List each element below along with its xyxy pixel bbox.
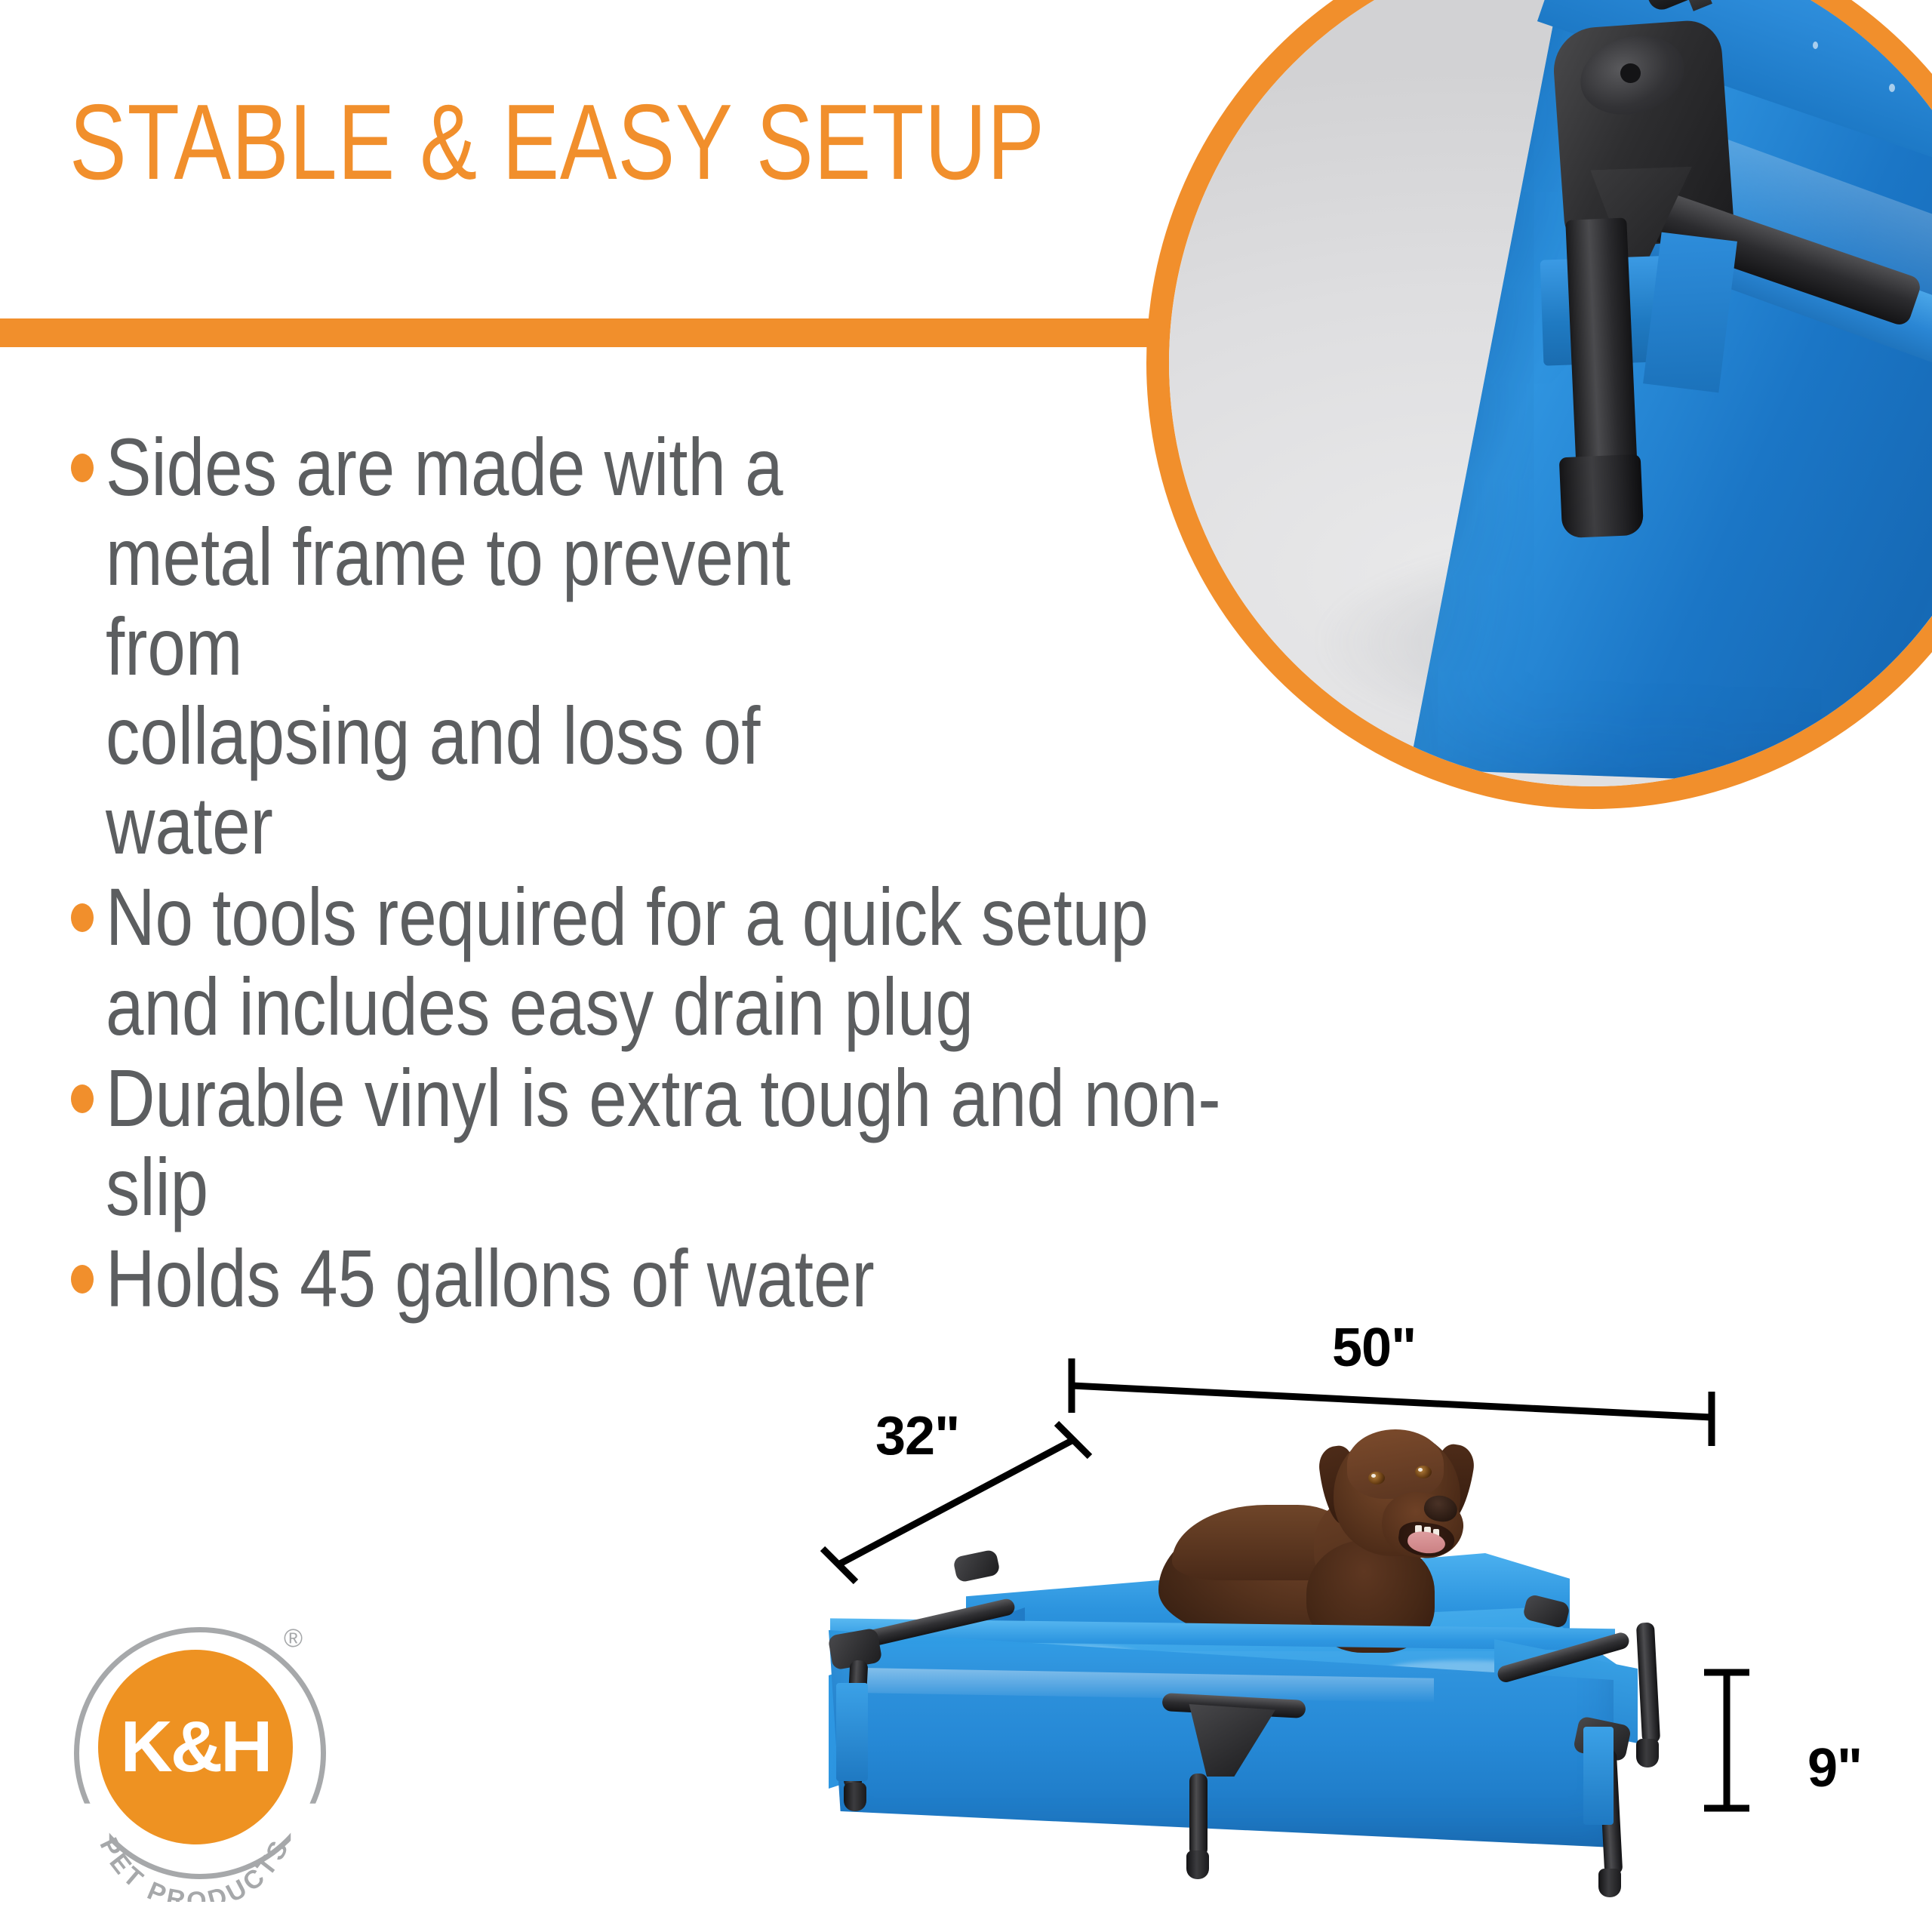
logo-tagline-arc: PET PRODUCTS — [66, 1623, 338, 1902]
bullet-dot-icon — [69, 1084, 95, 1114]
page-title: STABLE & EASY SETUP — [69, 89, 1045, 196]
dimension-label-height: 9" — [1807, 1737, 1862, 1799]
dog-eye-left — [1368, 1472, 1385, 1484]
list-item: No tools required for a quick setup and … — [69, 872, 1745, 1052]
list-item-label: Sides are made with a metal frame to pre… — [106, 423, 911, 871]
frame-foot-front-left — [844, 1783, 866, 1811]
brand-logo: K&H ® PET PRODUCTS — [66, 1623, 338, 1902]
frame-center-post — [1189, 1774, 1207, 1857]
dimension-label-width: 50" — [1332, 1317, 1416, 1379]
frame-foot-back-right — [1636, 1739, 1659, 1767]
dog-skull — [1347, 1429, 1444, 1499]
frame-leg-back-right — [1636, 1622, 1660, 1743]
bullet-dot-icon — [69, 1264, 95, 1294]
list-item-label: Holds 45 gallons of water — [106, 1234, 993, 1324]
list-item: Holds 45 gallons of water — [69, 1234, 1745, 1324]
bullet-dot-icon — [69, 453, 95, 483]
list-item: Durable vinyl is extra tough and non-sli… — [69, 1054, 1745, 1233]
feature-list: Sides are made with a metal frame to pre… — [69, 423, 1745, 1328]
product-photo — [815, 1419, 1736, 1917]
vinyl-strap-right — [1583, 1727, 1614, 1825]
list-item-label: Durable vinyl is extra tough and non-sli… — [106, 1054, 1247, 1233]
dog-labrador — [1158, 1426, 1475, 1653]
vinyl-strap-left — [836, 1683, 868, 1781]
bullet-dot-icon — [69, 903, 95, 933]
list-item: Sides are made with a metal frame to pre… — [69, 423, 1745, 871]
frame-foot-front-right — [1598, 1869, 1621, 1897]
title-divider-rule — [0, 318, 1192, 347]
dimension-label-depth: 32" — [875, 1405, 959, 1467]
water-droplet — [1889, 84, 1895, 92]
frame-center-foot — [1186, 1850, 1209, 1879]
list-item-label: No tools required for a quick setup and … — [106, 872, 1177, 1052]
corner-joint-cap-hole — [1620, 63, 1641, 83]
svg-text:PET PRODUCTS: PET PRODUCTS — [94, 1833, 295, 1902]
water-droplet — [1813, 42, 1818, 49]
frame-corner-back-left — [952, 1549, 1001, 1583]
dog-eye-right — [1415, 1466, 1432, 1478]
